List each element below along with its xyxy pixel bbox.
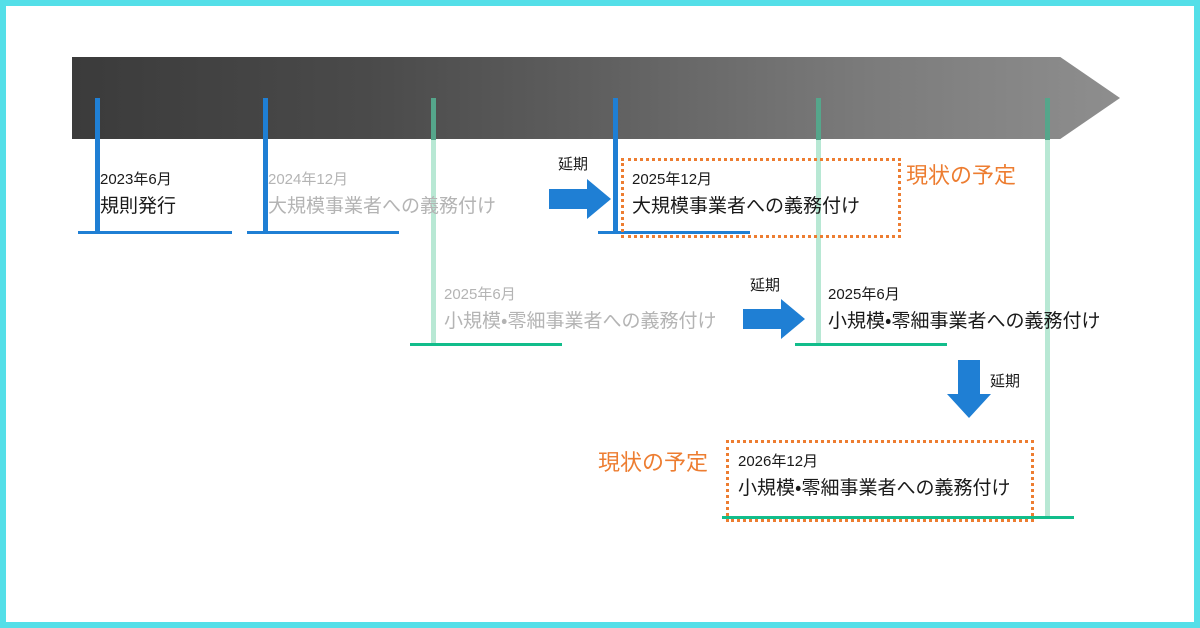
event-date: 2026年12月 <box>738 452 1010 472</box>
postpone-label-1: 延期 <box>558 156 588 174</box>
event-small-operators-2025-06-old: 2025年6月 小規模・零細事業者への義務付け <box>444 285 716 335</box>
tick-line-head-2026-12 <box>1045 98 1050 140</box>
timeline-banner <box>72 57 1120 139</box>
underline-2025-06-old <box>410 343 562 346</box>
tick-line-2025-12 <box>613 98 618 233</box>
event-title: 大規模事業者への義務付け <box>632 194 860 220</box>
event-large-operators-2024-12: 2024年12月 大規模事業者への義務付け <box>268 170 496 220</box>
event-small-operators-2025-06-new: 2025年6月 小規模・零細事業者への義務付け <box>828 285 1100 335</box>
event-title: 規則発行 <box>100 194 176 220</box>
postpone-label-3: 延期 <box>990 373 1020 391</box>
event-date: 2025年12月 <box>632 170 860 190</box>
postpone-label-2: 延期 <box>750 277 780 295</box>
tick-line-head-2025-06-new <box>816 98 821 140</box>
event-large-operators-2025-12: 2025年12月 大規模事業者への義務付け <box>632 170 860 220</box>
event-title: 小規模・零細事業者への義務付け <box>828 309 1100 335</box>
postpone-arrow-right-1 <box>549 179 611 219</box>
event-date: 2025年6月 <box>444 285 716 305</box>
timeline-diagram: 2023年6月 規則発行 2024年12月 大規模事業者への義務付け 延期 20… <box>0 0 1200 628</box>
event-rule-issued: 2023年6月 規則発行 <box>100 170 176 220</box>
event-title: 小規模・零細事業者への義務付け <box>738 476 1010 502</box>
postpone-arrow-right-2 <box>743 299 805 339</box>
current-plan-label-top: 現状の予定 <box>906 163 1016 189</box>
current-plan-label-bottom: 現状の予定 <box>598 450 708 476</box>
event-title: 大規模事業者への義務付け <box>268 194 496 220</box>
event-small-operators-2026-12: 2026年12月 小規模・零細事業者への義務付け <box>738 452 1010 502</box>
event-title: 小規模・零細事業者への義務付け <box>444 309 716 335</box>
tick-line-head-2025-06-old <box>431 98 436 140</box>
underline-2025-06-new <box>795 343 947 346</box>
postpone-arrow-down-3 <box>947 360 991 418</box>
event-date: 2025年6月 <box>828 285 1100 305</box>
event-date: 2024年12月 <box>268 170 496 190</box>
underline-2023-06 <box>78 231 232 234</box>
underline-2024-12 <box>247 231 399 234</box>
event-date: 2023年6月 <box>100 170 176 190</box>
